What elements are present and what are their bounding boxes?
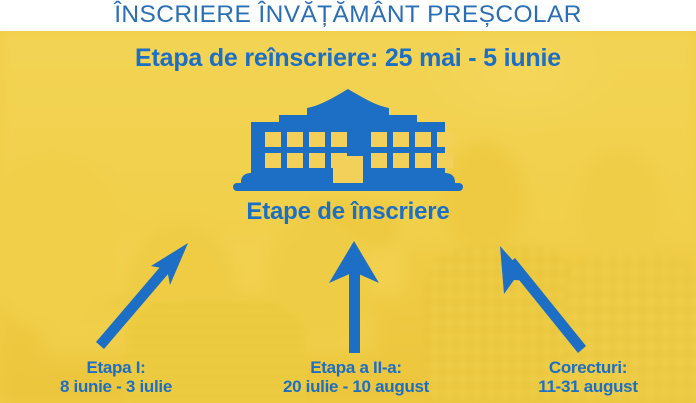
stage-arrows <box>0 0 696 403</box>
stage-1-name: Etapa I: <box>0 358 232 377</box>
stage-label-1: Etapa I: 8 iunie - 3 iulie <box>0 358 232 396</box>
arrow-up-icon <box>329 241 379 353</box>
stage-2-dates: 20 iulie - 10 august <box>232 377 480 396</box>
stage-3-name: Corecturi: <box>480 358 696 377</box>
arrow-up-right-icon <box>96 243 188 349</box>
poster-content: Etapa de reînscriere: 25 mai - 5 iunie <box>0 0 696 403</box>
stage-label-2: Etapa a II-a: 20 iulie - 10 august <box>232 358 480 396</box>
arrow-up-left-icon <box>500 246 586 353</box>
stage-2-name: Etapa a II-a: <box>232 358 480 377</box>
stage-1-dates: 8 iunie - 3 iulie <box>0 377 232 396</box>
page-title: ÎNSCRIERE ÎNVĂȚĂMÂNT PREȘCOLAR <box>0 1 696 29</box>
stage-label-3: Corecturi: 11-31 august <box>480 358 696 396</box>
stage-3-dates: 11-31 august <box>480 377 696 396</box>
preschool-enrollment-poster: ÎNSCRIERE ÎNVĂȚĂMÂNT PREȘCOLAR Etapa de … <box>0 0 696 403</box>
